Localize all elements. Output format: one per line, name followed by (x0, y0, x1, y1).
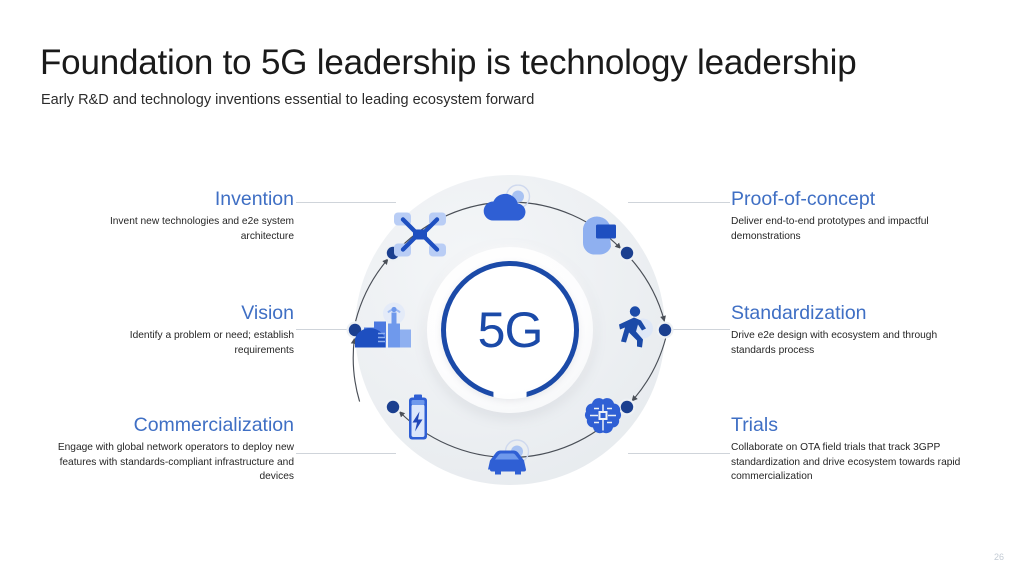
callout-invention: Invention Invent new technologies and e2… (64, 188, 294, 244)
callout-description-standardization: Drive e2e design with ecosystem and thro… (731, 329, 981, 358)
battery-icon (403, 393, 433, 448)
page-subtitle: Early R&D and technology inventions esse… (41, 92, 534, 108)
cloud-icon (479, 185, 535, 232)
callout-vision: Vision Identify a problem or need; estab… (84, 302, 294, 358)
callout-heading-standardization: Standardization (731, 302, 981, 325)
drone-icon (392, 209, 448, 266)
callout-proof-of-concept: Proof-of-concept Deliver end-to-end prot… (731, 188, 981, 244)
node-dot-commercialization[interactable] (387, 401, 399, 413)
callout-heading-vision: Vision (84, 302, 294, 325)
page-number: 26 (994, 552, 1004, 562)
callout-heading-commercialization: Commercialization (50, 414, 294, 437)
ai-brain-icon (580, 396, 626, 445)
callout-description-trials: Collaborate on OTA field trials that tra… (731, 441, 987, 484)
page-title: Foundation to 5G leadership is technolog… (40, 43, 857, 83)
node-dot-standardization[interactable] (659, 324, 671, 336)
callout-heading-proof-of-concept: Proof-of-concept (731, 188, 981, 211)
callout-heading-invention: Invention (64, 188, 294, 211)
callout-commercialization: Commercialization Engage with global net… (50, 414, 294, 485)
vr-headset-icon (577, 213, 623, 262)
callout-description-proof-of-concept: Deliver end-to-end prototypes and impact… (731, 215, 981, 244)
callout-trials: Trials Collaborate on OTA field trials t… (731, 414, 987, 485)
callout-description-commercialization: Engage with global network operators to … (50, 441, 294, 484)
lifecycle-ring-diagram: 5G (355, 175, 665, 485)
callout-heading-trials: Trials (731, 414, 987, 437)
callout-description-invention: Invent new technologies and e2e system a… (64, 215, 294, 244)
pedestrian-icon (618, 305, 658, 356)
callout-description-vision: Identify a problem or need; establish re… (84, 329, 294, 358)
slide-canvas: Foundation to 5G leadership is technolog… (0, 0, 1024, 576)
car-icon (481, 438, 539, 485)
callout-standardization: Standardization Drive e2e design with ec… (731, 302, 981, 358)
smart-city-icon (352, 302, 414, 359)
